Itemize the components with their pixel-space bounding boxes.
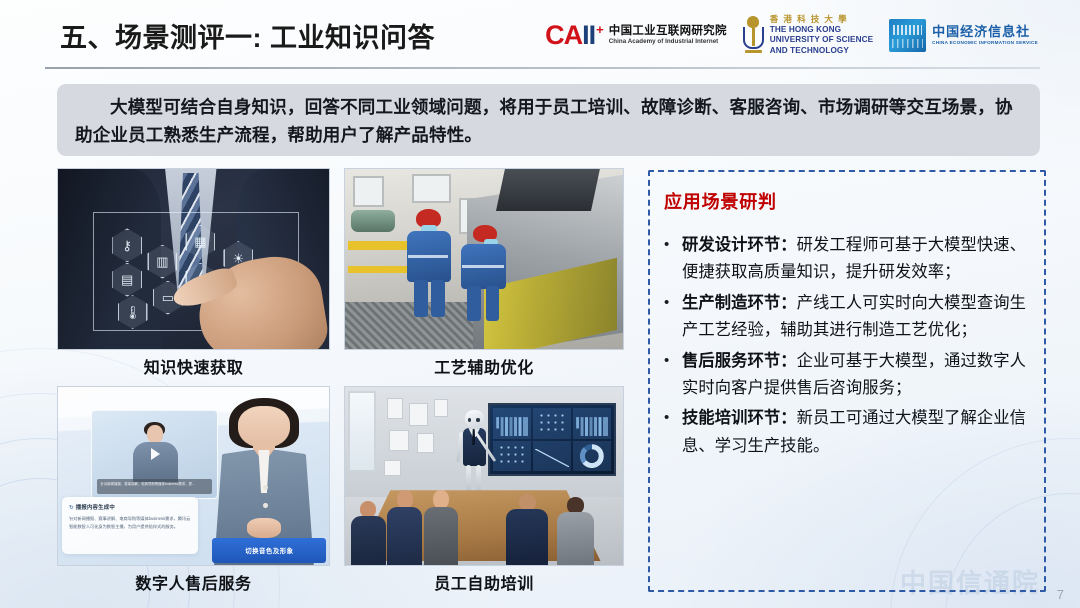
slide-header: 五、场景测评一: 工业知识问答 CAII+ 中国工业互联网研究院 China A…	[0, 0, 1080, 70]
bullet-lead: 研发设计环节：	[682, 236, 797, 254]
photo-caption-3: 数字人售后服务	[57, 570, 330, 594]
list-item: • 研发设计环节：研发工程师可基于大模型快速、便捷获取高质量知识，提升研发效率；	[664, 232, 1028, 287]
photo-1-scene: ⚷ ▥ ▦ ☀ ▤ ▲ ◎ 🌡 ▭ ▯	[58, 169, 329, 349]
ceis-name-en: CHINA ECONOMIC INFORMATION SERVICE	[932, 40, 1038, 46]
bullet-text: 生产制造环节：产线工人可实时向大模型查询生产工艺经验，辅助其进行制造工艺优化；	[682, 290, 1028, 345]
slide-canvas: 中国信通院 五、场景测评一: 工业知识问答 CAII+ 中国工业互联网研究院 C…	[0, 0, 1080, 608]
preview-subtitle: 针对新闻播报、赛事讲解、电商导购等媒体business需求，提...	[97, 479, 212, 494]
bullet-text: 售后服务环节：企业可基于大模型，通过数字人实时向客户提供售后咨询服务；	[682, 348, 1028, 403]
list-item: • 技能培训环节：新员工可通过大模型了解企业信息、学习生产技能。	[664, 405, 1028, 460]
caii-mark-ii: II	[582, 22, 595, 49]
attendee	[423, 490, 459, 565]
chart-cell-donut	[573, 441, 611, 471]
photo-digital-human-service: 针对新闻播报、赛事讲解、电商导购等媒体business需求，提... ↻播报内容…	[57, 386, 330, 566]
spinner-icon: ↻	[69, 505, 74, 511]
hkust-text-block: 香 港 科 技 大 學 THE HONG KONG UNIVERSITY OF …	[770, 14, 873, 57]
bullet-lead: 生产制造环节：	[682, 294, 797, 312]
bullet-lead: 售后服务环节：	[682, 352, 797, 370]
photo-employee-training	[344, 386, 624, 566]
page-title: 五、场景测评一: 工业知识问答	[60, 16, 435, 55]
photo-caption-1: 知识快速获取	[57, 354, 330, 378]
chart-cell-bars2	[573, 408, 611, 438]
hkust-seal-icon	[743, 16, 764, 54]
generation-status-card: ↻播报内容生成中 针对新闻播报、赛事讲解、电商导购等媒体business需求，腾…	[62, 497, 198, 554]
photo-knowledge-retrieval: ⚷ ▥ ▦ ☀ ▤ ▲ ◎ 🌡 ▭ ▯	[57, 168, 330, 350]
photo-4-scene	[345, 387, 623, 565]
photo-2-scene	[345, 169, 623, 349]
caii-name-en: China Academy of Industrial Internet	[609, 38, 727, 45]
hkust-name-en-2: UNIVERSITY OF SCIENCE	[770, 35, 873, 46]
caii-wordmark-icon: CAII+	[545, 22, 603, 49]
bullet-text: 研发设计环节：研发工程师可基于大模型快速、便捷获取高质量知识，提升研发效率；	[682, 232, 1028, 287]
dashboard-screen	[488, 403, 616, 476]
worker-front	[401, 209, 462, 321]
chart-cell-dots2	[493, 441, 531, 471]
photo-caption-4: 员工自助培训	[344, 570, 624, 594]
page-number: 7	[1057, 587, 1064, 602]
summary-text: 大模型可结合自身知识，回答不同工业领域问题，将用于员工培训、故障诊断、客服咨询、…	[75, 93, 1022, 150]
hkust-name-en-1: THE HONG KONG	[770, 25, 873, 36]
attendee	[351, 501, 387, 565]
caii-plus-icon: +	[596, 23, 603, 36]
caii-logo: CAII+ 中国工业互联网研究院 China Academy of Indust…	[545, 14, 727, 56]
attendee	[556, 497, 595, 565]
hkust-name-en-3: AND TECHNOLOGY	[770, 46, 873, 57]
play-icon	[151, 448, 160, 460]
bullet-lead: 技能培训环节：	[682, 409, 797, 427]
attendee	[506, 494, 548, 565]
generation-status-title: ↻播报内容生成中	[69, 503, 191, 511]
bullet-marker: •	[664, 232, 672, 287]
ceis-name-cn: 中国经济信息社	[932, 24, 1038, 40]
ceis-logo: 中国经济信息社 CHINA ECONOMIC INFORMATION SERVI…	[889, 14, 1038, 56]
switch-voice-and-avatar-button[interactable]: 切换音色及形象	[212, 538, 326, 563]
caii-text-block: 中国工业互联网研究院 China Academy of Industrial I…	[609, 25, 727, 46]
hkust-name-cn: 香 港 科 技 大 學	[770, 14, 873, 25]
header-divider	[45, 67, 1040, 69]
photo-3-scene: 针对新闻播报、赛事讲解、电商导购等媒体business需求，提... ↻播报内容…	[58, 387, 329, 565]
generation-status-body: 针对新闻播报、赛事讲解、电商导购等媒体business需求，腾讯云智能数智人可化…	[69, 515, 191, 530]
ceis-text-block: 中国经济信息社 CHINA ECONOMIC INFORMATION SERVI…	[932, 24, 1038, 46]
summary-box: 大模型可结合自身知识，回答不同工业领域问题，将用于员工培训、故障诊断、客服咨询、…	[57, 84, 1040, 156]
ceis-emblem-icon	[889, 19, 926, 52]
bullet-marker: •	[664, 348, 672, 403]
photo-process-optimization	[344, 168, 624, 350]
bullet-marker: •	[664, 290, 672, 345]
analysis-panel: 应用场景研判 • 研发设计环节：研发工程师可基于大模型快速、便捷获取高质量知识，…	[648, 170, 1046, 592]
panel-title: 应用场景研判	[664, 188, 1028, 214]
caii-mark-c: CA	[545, 22, 582, 49]
video-preview-pane: 针对新闻播报、赛事讲解、电商导购等媒体business需求，提...	[91, 410, 218, 499]
chart-cell-line	[533, 441, 571, 471]
photo-caption-2: 工艺辅助优化	[344, 354, 624, 378]
logo-group: CAII+ 中国工业互联网研究院 China Academy of Indust…	[545, 12, 1038, 58]
bullet-text: 技能培训环节：新员工可通过大模型了解企业信息、学习生产技能。	[682, 405, 1028, 460]
hkust-logo: 香 港 科 技 大 學 THE HONG KONG UNIVERSITY OF …	[743, 14, 873, 56]
chart-cell-bars	[493, 408, 531, 438]
bullet-marker: •	[664, 405, 672, 460]
list-item: • 售后服务环节：企业可基于大模型，通过数字人实时向客户提供售后咨询服务；	[664, 348, 1028, 403]
bullet-list: • 研发设计环节：研发工程师可基于大模型快速、便捷获取高质量知识，提升研发效率；…	[664, 232, 1028, 460]
list-item: • 生产制造环节：产线工人可实时向大模型查询生产工艺经验，辅助其进行制造工艺优化…	[664, 290, 1028, 345]
attendee	[387, 490, 423, 565]
caii-name-cn: 中国工业互联网研究院	[609, 25, 727, 38]
chart-cell-dots	[533, 408, 571, 438]
generation-status-text: 播报内容生成中	[76, 505, 115, 511]
worker-back	[456, 225, 517, 324]
